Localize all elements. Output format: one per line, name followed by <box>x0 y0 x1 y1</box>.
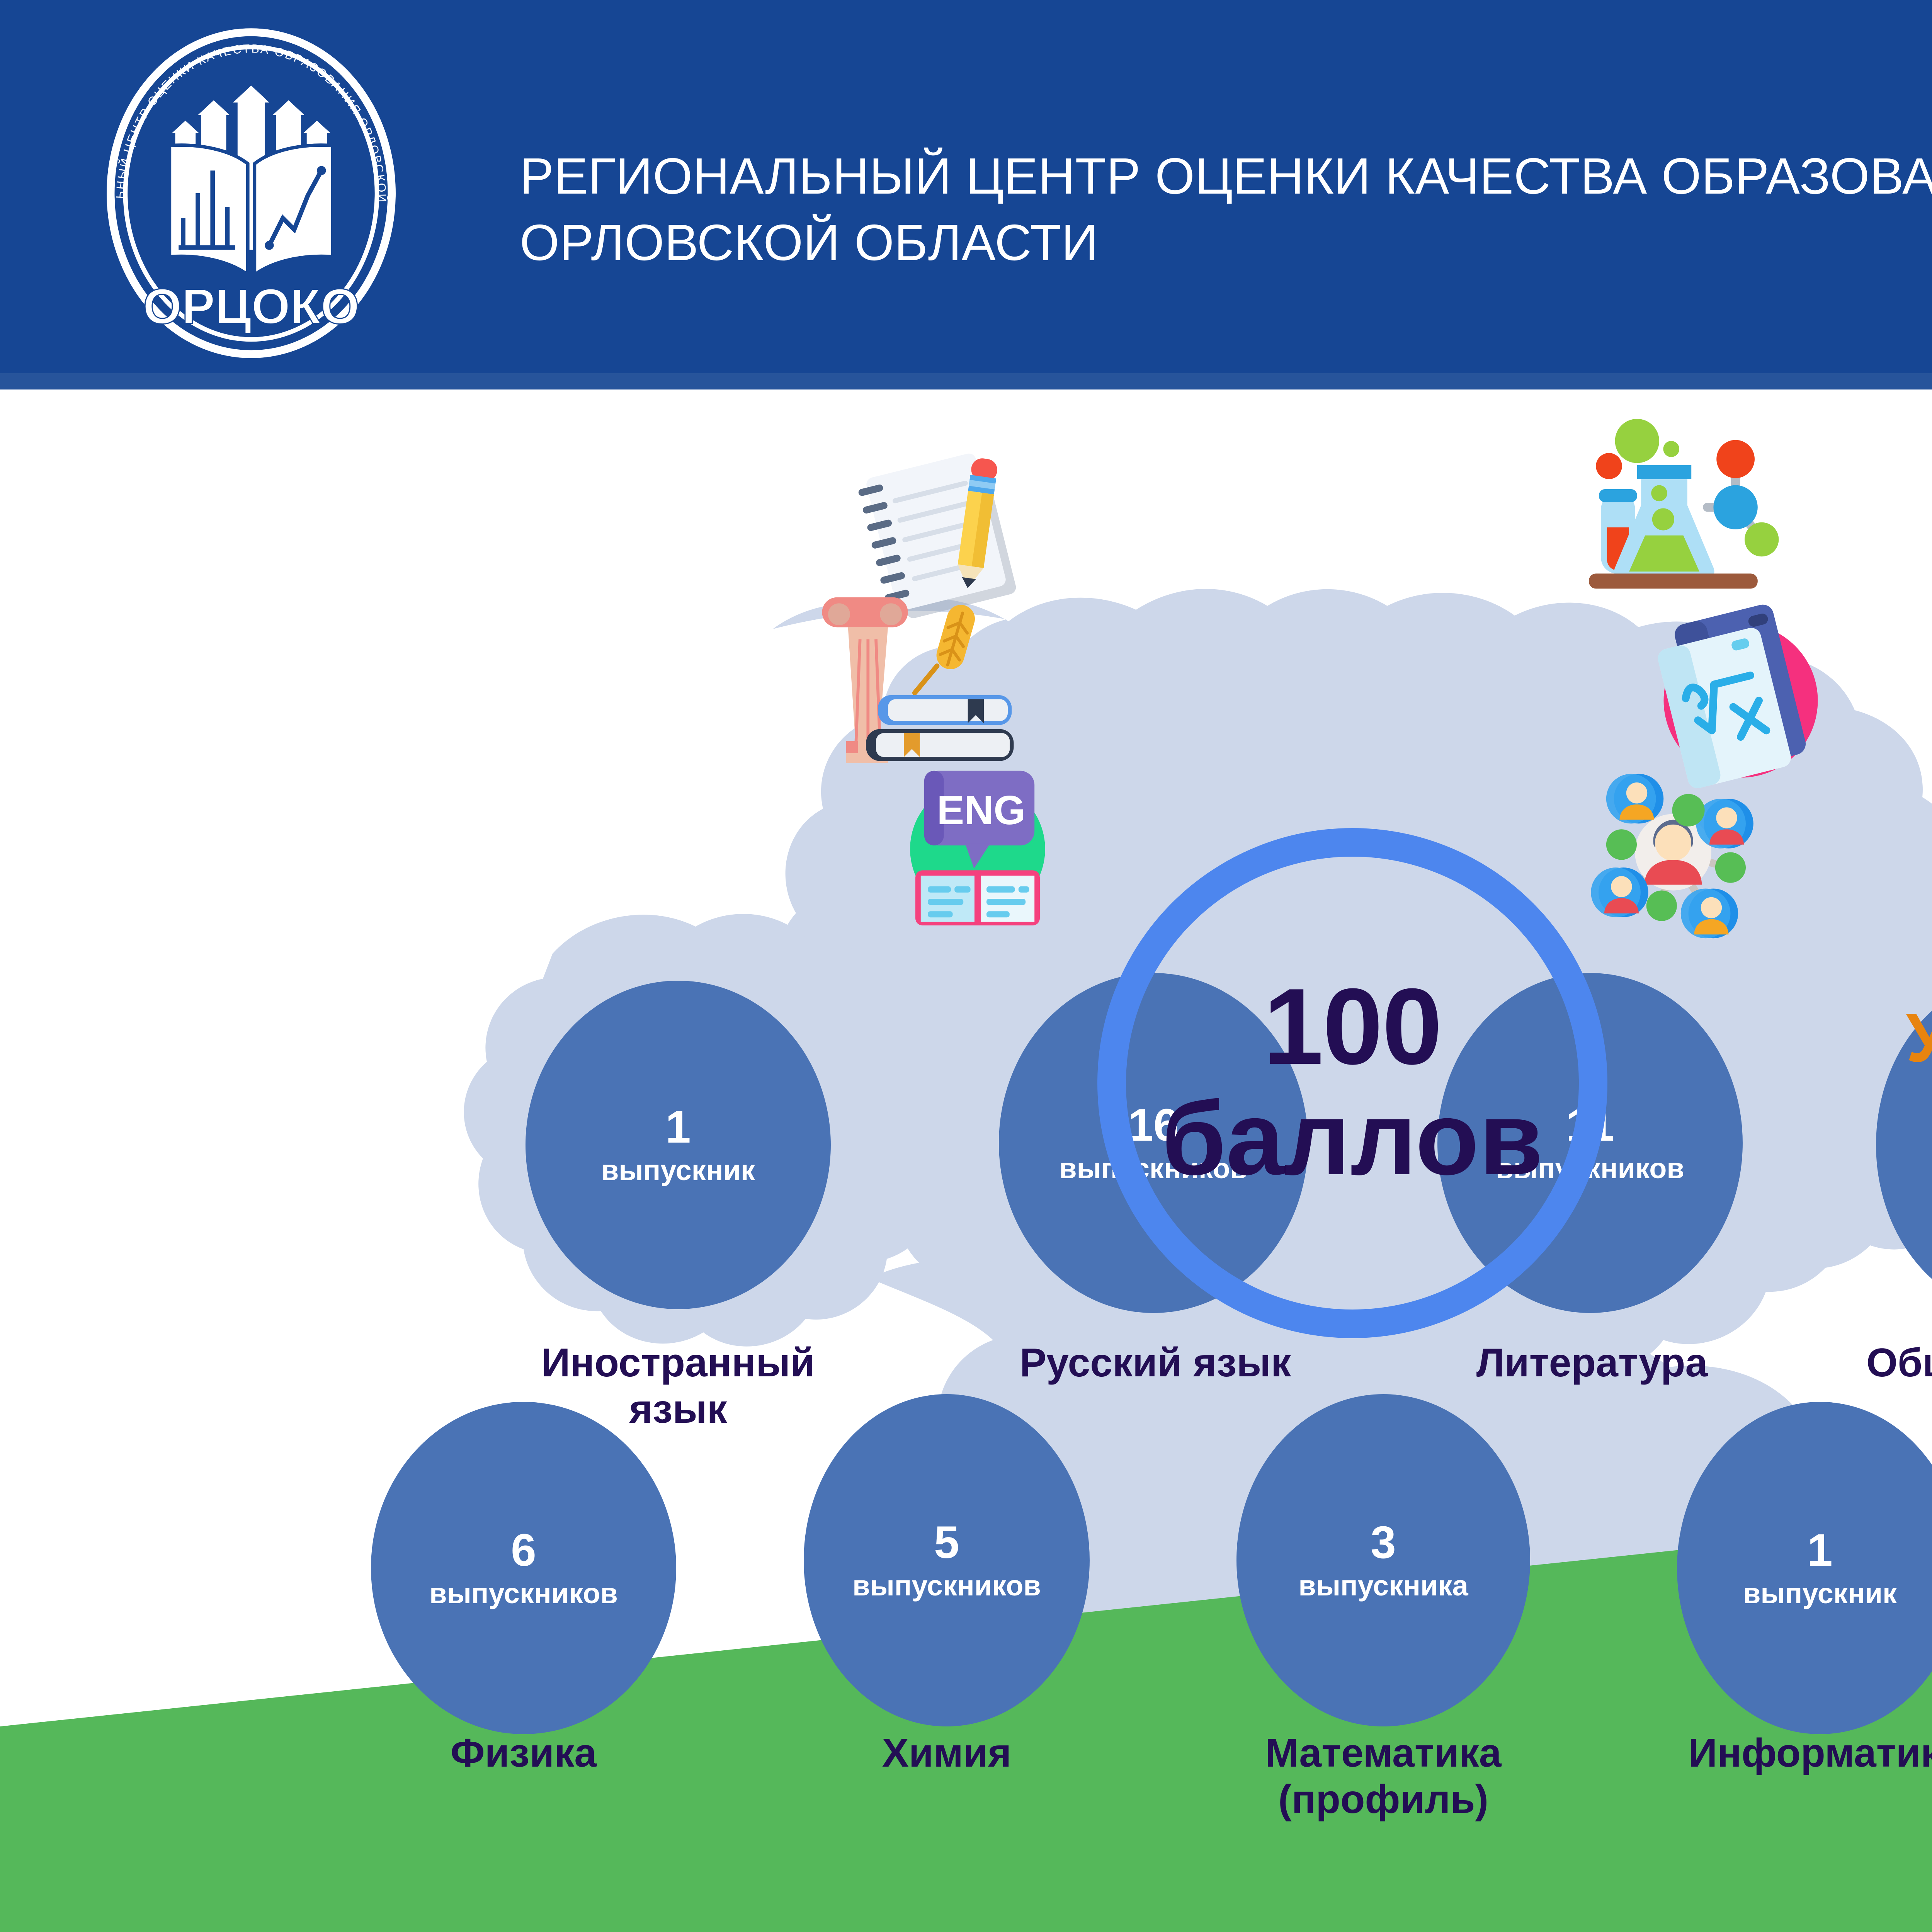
header-underline <box>0 373 1932 389</box>
subject-label-russian-language: Русский язык <box>927 1340 1383 1386</box>
subject-label-physics: Физика <box>309 1730 738 1777</box>
infographic-slide: РЕГИОНАЛЬНЫЙ ЦЕНТР ОЦЕНКИ КАЧЕСТВА ОБРАЗ… <box>0 0 1932 1932</box>
stat-number: 1 <box>665 1104 691 1150</box>
page-title: РЕГИОНАЛЬНЫЙ ЦЕНТР ОЦЕНКИ КАЧЕСТВА ОБРАЗ… <box>520 143 1932 276</box>
subject-label-mathematics: Математика (профиль) <box>1153 1730 1613 1823</box>
english-book-icon: ENG <box>889 757 1066 934</box>
hundred-points-number: 100 <box>1263 973 1441 1081</box>
hundred-points-badge: 100 баллов <box>1097 828 1607 1338</box>
subject-label-informatics: Информатика <box>1600 1730 1932 1777</box>
stat-number: 6 <box>511 1527 536 1573</box>
chemistry-flask-icon <box>1557 409 1781 610</box>
stat-unit: выпускник <box>601 1155 755 1185</box>
stat-number: 5 <box>934 1520 959 1565</box>
stat-number: 3 <box>1371 1520 1396 1565</box>
subject-label-social-studies: Обществознание <box>1762 1340 1932 1386</box>
subject-label-literature: Литература <box>1383 1340 1801 1386</box>
stat-bubble-mathematics: 3 выпускника <box>1236 1394 1530 1726</box>
subject-label-chemistry: Химия <box>746 1730 1148 1777</box>
logo-wordmark: ОРЦОКО <box>143 279 359 334</box>
social-network-icon <box>1577 764 1770 946</box>
subject-label-foreign-language: Иностранный язык <box>421 1340 935 1432</box>
stat-unit: выпускников <box>852 1571 1041 1601</box>
stat-bubble-chemistry: 5 выпускников <box>804 1394 1090 1726</box>
stat-unit: выпускника <box>1298 1571 1468 1601</box>
column-quill-books-icon <box>792 583 1032 784</box>
stat-bubble-physics: 6 выпускников <box>371 1402 676 1734</box>
header-bar: РЕГИОНАЛЬНЫЙ ЦЕНТР ОЦЕНКИ КАЧЕСТВА ОБРАЗ… <box>0 0 1932 389</box>
stat-number: 1 <box>1807 1527 1833 1573</box>
stat-unit: выпускник <box>1743 1578 1897 1609</box>
slide-headline: Успехи орловских выпускников в цифрах <box>1812 992 1932 1267</box>
hundred-points-label: баллов <box>1162 1084 1543 1194</box>
stat-unit: выпускников <box>429 1578 618 1609</box>
stat-bubble-foreign-language: 1 выпускник <box>526 981 831 1309</box>
content-area: ENG <box>0 389 1932 1932</box>
orcoko-logo: РЕГИОНАЛЬНЫЙ ЦЕНТР ОЦЕНКИ КАЧЕСТВА ОБРАЗ… <box>81 23 421 363</box>
eng-badge-label: ENG <box>937 787 1026 833</box>
